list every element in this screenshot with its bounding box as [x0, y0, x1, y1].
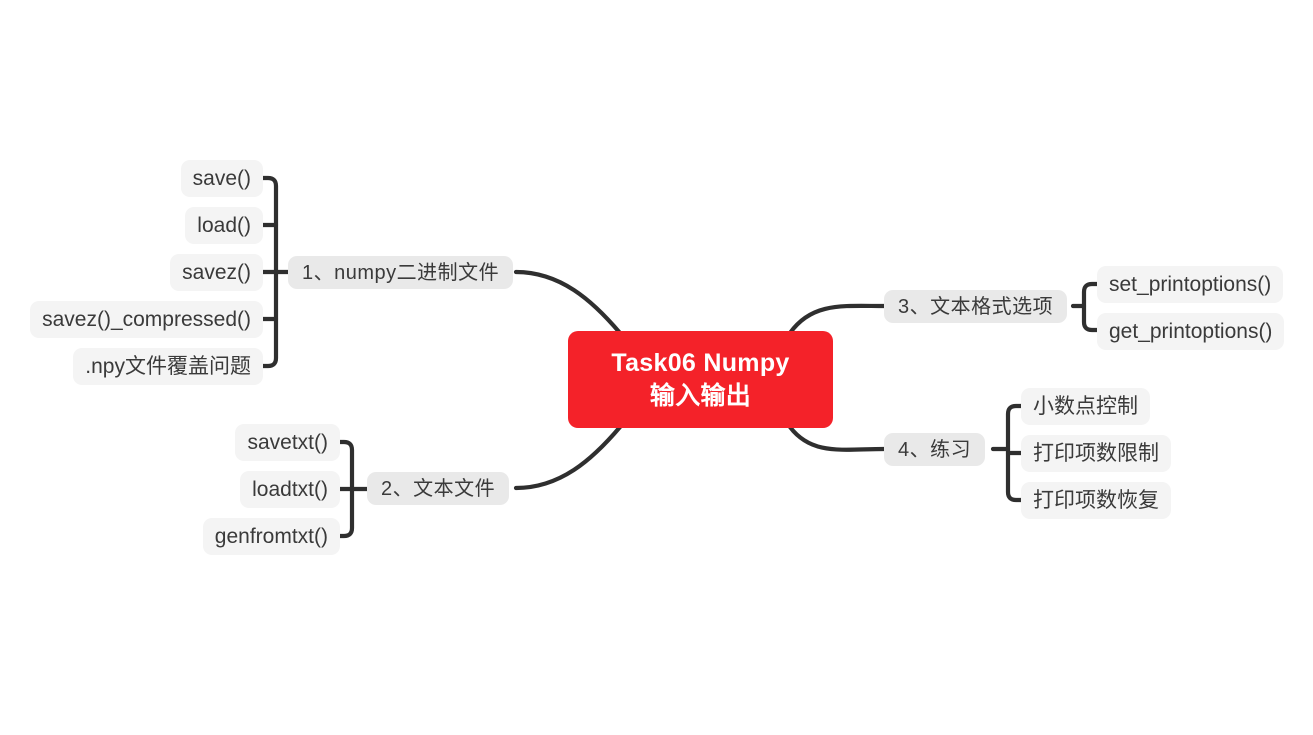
leaf-branch1-savez[interactable]: savez()	[170, 254, 263, 291]
central-node[interactable]: Task06 Numpy 输入输出	[568, 331, 833, 428]
branch-node-1[interactable]: 1、numpy二进制文件	[288, 256, 513, 289]
bracket-branch4	[1008, 406, 1021, 500]
edge-central-branch2	[516, 427, 620, 488]
branch-node-3[interactable]: 3、文本格式选项	[884, 290, 1067, 323]
leaf-branch1-load[interactable]: load()	[185, 207, 263, 244]
edge-central-branch4	[790, 427, 884, 450]
bracket-branch3	[1084, 284, 1097, 330]
leaf-branch2-loadtxt[interactable]: loadtxt()	[240, 471, 340, 508]
edge-central-branch1	[516, 272, 620, 333]
edge-central-branch3	[790, 306, 884, 333]
leaf-branch1-savez-compressed[interactable]: savez()_compressed()	[30, 301, 263, 338]
branch-node-4[interactable]: 4、练习	[884, 433, 985, 466]
leaf-branch4-print-items-limit[interactable]: 打印项数限制	[1021, 435, 1171, 472]
mindmap-canvas: Task06 Numpy 输入输出 1、numpy二进制文件 save() lo…	[0, 0, 1313, 735]
leaf-branch1-npy-overwrite[interactable]: .npy文件覆盖问题	[73, 348, 263, 385]
bracket-branch1	[263, 178, 276, 366]
leaf-branch2-savetxt[interactable]: savetxt()	[235, 424, 340, 461]
branch-node-2[interactable]: 2、文本文件	[367, 472, 509, 505]
leaf-branch3-set-printoptions[interactable]: set_printoptions()	[1097, 266, 1283, 303]
leaf-branch1-save[interactable]: save()	[181, 160, 263, 197]
leaf-branch4-decimal-control[interactable]: 小数点控制	[1021, 388, 1150, 425]
leaf-branch3-get-printoptions[interactable]: get_printoptions()	[1097, 313, 1284, 350]
central-title-line2: 输入输出	[650, 380, 751, 413]
bracket-branch2	[339, 442, 352, 536]
central-title-line1: Task06 Numpy	[611, 347, 789, 380]
leaf-branch4-print-items-restore[interactable]: 打印项数恢复	[1021, 482, 1171, 519]
leaf-branch2-genfromtxt[interactable]: genfromtxt()	[203, 518, 340, 555]
